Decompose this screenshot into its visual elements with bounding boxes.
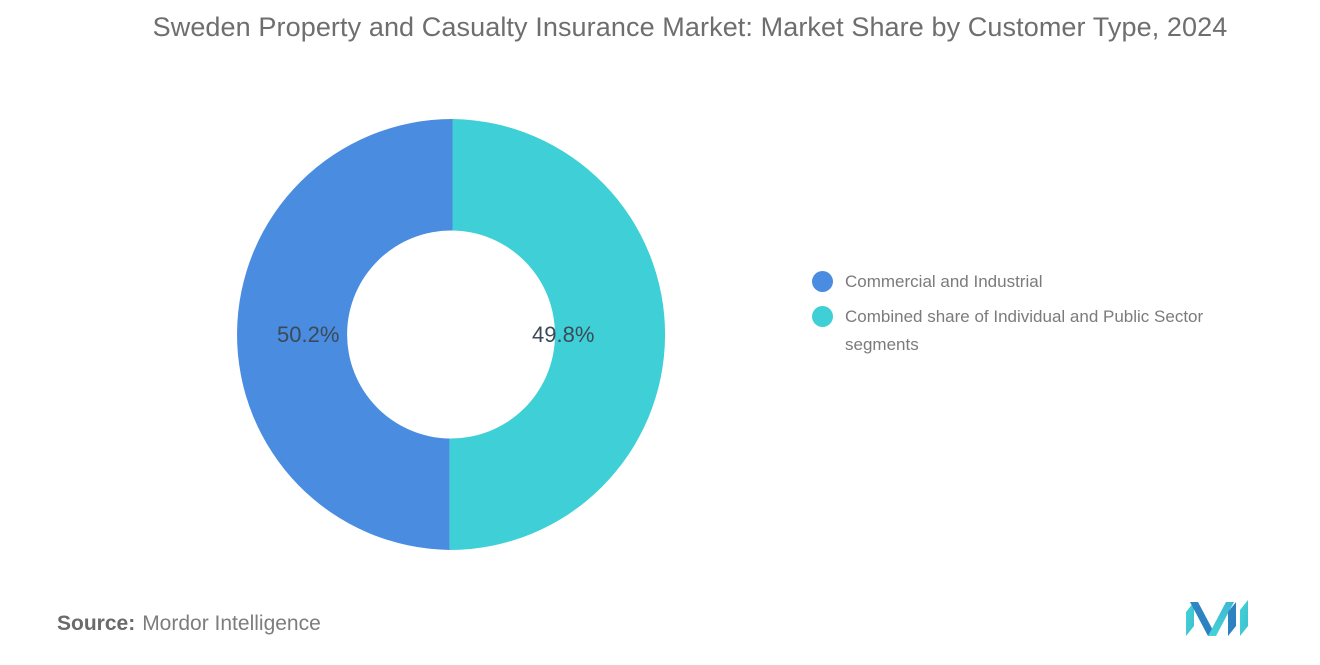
page-title-line-1: Sweden Property and Casualty Insurance M… <box>153 12 1086 42</box>
legend-swatch-blue-circle-icon <box>812 271 833 292</box>
chart-legend: Commercial and Industrial Combined share… <box>812 268 1282 366</box>
donut-chart: 50.2% 49.8% <box>237 119 668 550</box>
legend-item-individual-and-public-sector[interactable]: Combined share of Individual and Public … <box>812 303 1282 359</box>
page-title-line-2: Type, 2024 <box>1093 12 1228 42</box>
legend-label-individual-and-public-sector: Combined share of Individual and Public … <box>845 303 1265 359</box>
source-value: Mordor Intelligence <box>142 612 321 635</box>
donut-slice-commercial-and-industrial[interactable] <box>237 119 452 550</box>
logo-svg <box>1186 600 1250 638</box>
legend-item-commercial-and-industrial[interactable]: Commercial and Industrial <box>812 268 1282 296</box>
legend-label-commercial-and-industrial: Commercial and Industrial <box>845 268 1042 296</box>
mordor-intelligence-logo-icon <box>1186 600 1250 638</box>
slice-label-individual-and-public-sector: 49.8% <box>532 322 594 348</box>
legend-swatch-teal-circle-icon <box>812 306 833 327</box>
slice-label-commercial-and-industrial: 50.2% <box>277 322 339 348</box>
source-label: Source: <box>57 612 135 635</box>
page-title: Sweden Property and Casualty Insurance M… <box>150 8 1230 46</box>
source-line: Source:Mordor Intelligence <box>57 612 321 636</box>
